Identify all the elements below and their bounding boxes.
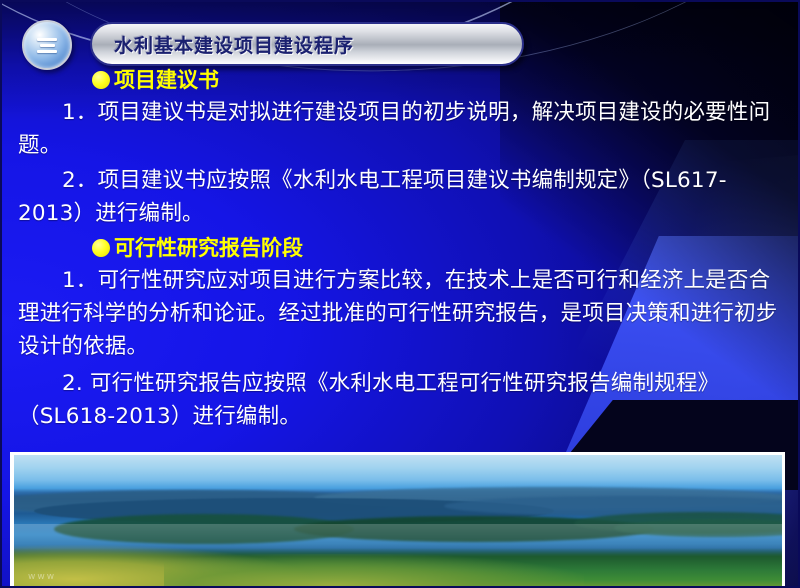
page-title: 水利基本建设项目建设程序 xyxy=(114,31,354,58)
yellow-dot-bullet-icon xyxy=(92,239,110,257)
section-1-paragraph-2: 2．项目建议书应按照《水利水电工程项目建议书编制规定》（SL617-2013）进… xyxy=(0,164,800,230)
title-pill: 水利基本建设项目建设程序 xyxy=(90,22,524,66)
yellow-dot-bullet-icon xyxy=(92,71,110,89)
section-1-paragraph-1: 1．项目建议书是对拟进行建设项目的初步说明，解决项目建设的必要性问题。 xyxy=(0,96,800,162)
section-heading-1: 项目建议书 xyxy=(0,66,800,94)
hamburger-three-lines-icon xyxy=(22,20,72,70)
section-heading-2: 可行性研究报告阶段 xyxy=(0,234,800,262)
section-heading-2-label: 可行性研究报告阶段 xyxy=(114,234,303,262)
reservoir-lake-photo: www xyxy=(14,455,782,588)
slide-title-bar: 水利基本建设项目建设程序 xyxy=(22,20,520,64)
photo-foliage xyxy=(164,554,584,588)
photo-watermark: www xyxy=(28,572,56,582)
section-2-paragraph-1: 1．可行性研究应对项目进行方案比较，在技术上是否可行和经济上是否合理进行科学的分… xyxy=(0,264,800,363)
section-heading-1-label: 项目建议书 xyxy=(114,66,219,94)
slide-content: 项目建议书 1．项目建议书是对拟进行建设项目的初步说明，解决项目建设的必要性问题… xyxy=(0,66,800,433)
presentation-slide: 水利基本建设项目建设程序 项目建议书 1．项目建议书是对拟进行建设项目的初步说明… xyxy=(0,0,800,588)
slide-photo-frame: www xyxy=(10,452,785,588)
section-2-paragraph-2: 2. 可行性研究报告应按照《水利水电工程可行性研究报告编制规程》（SL618-2… xyxy=(0,367,800,433)
